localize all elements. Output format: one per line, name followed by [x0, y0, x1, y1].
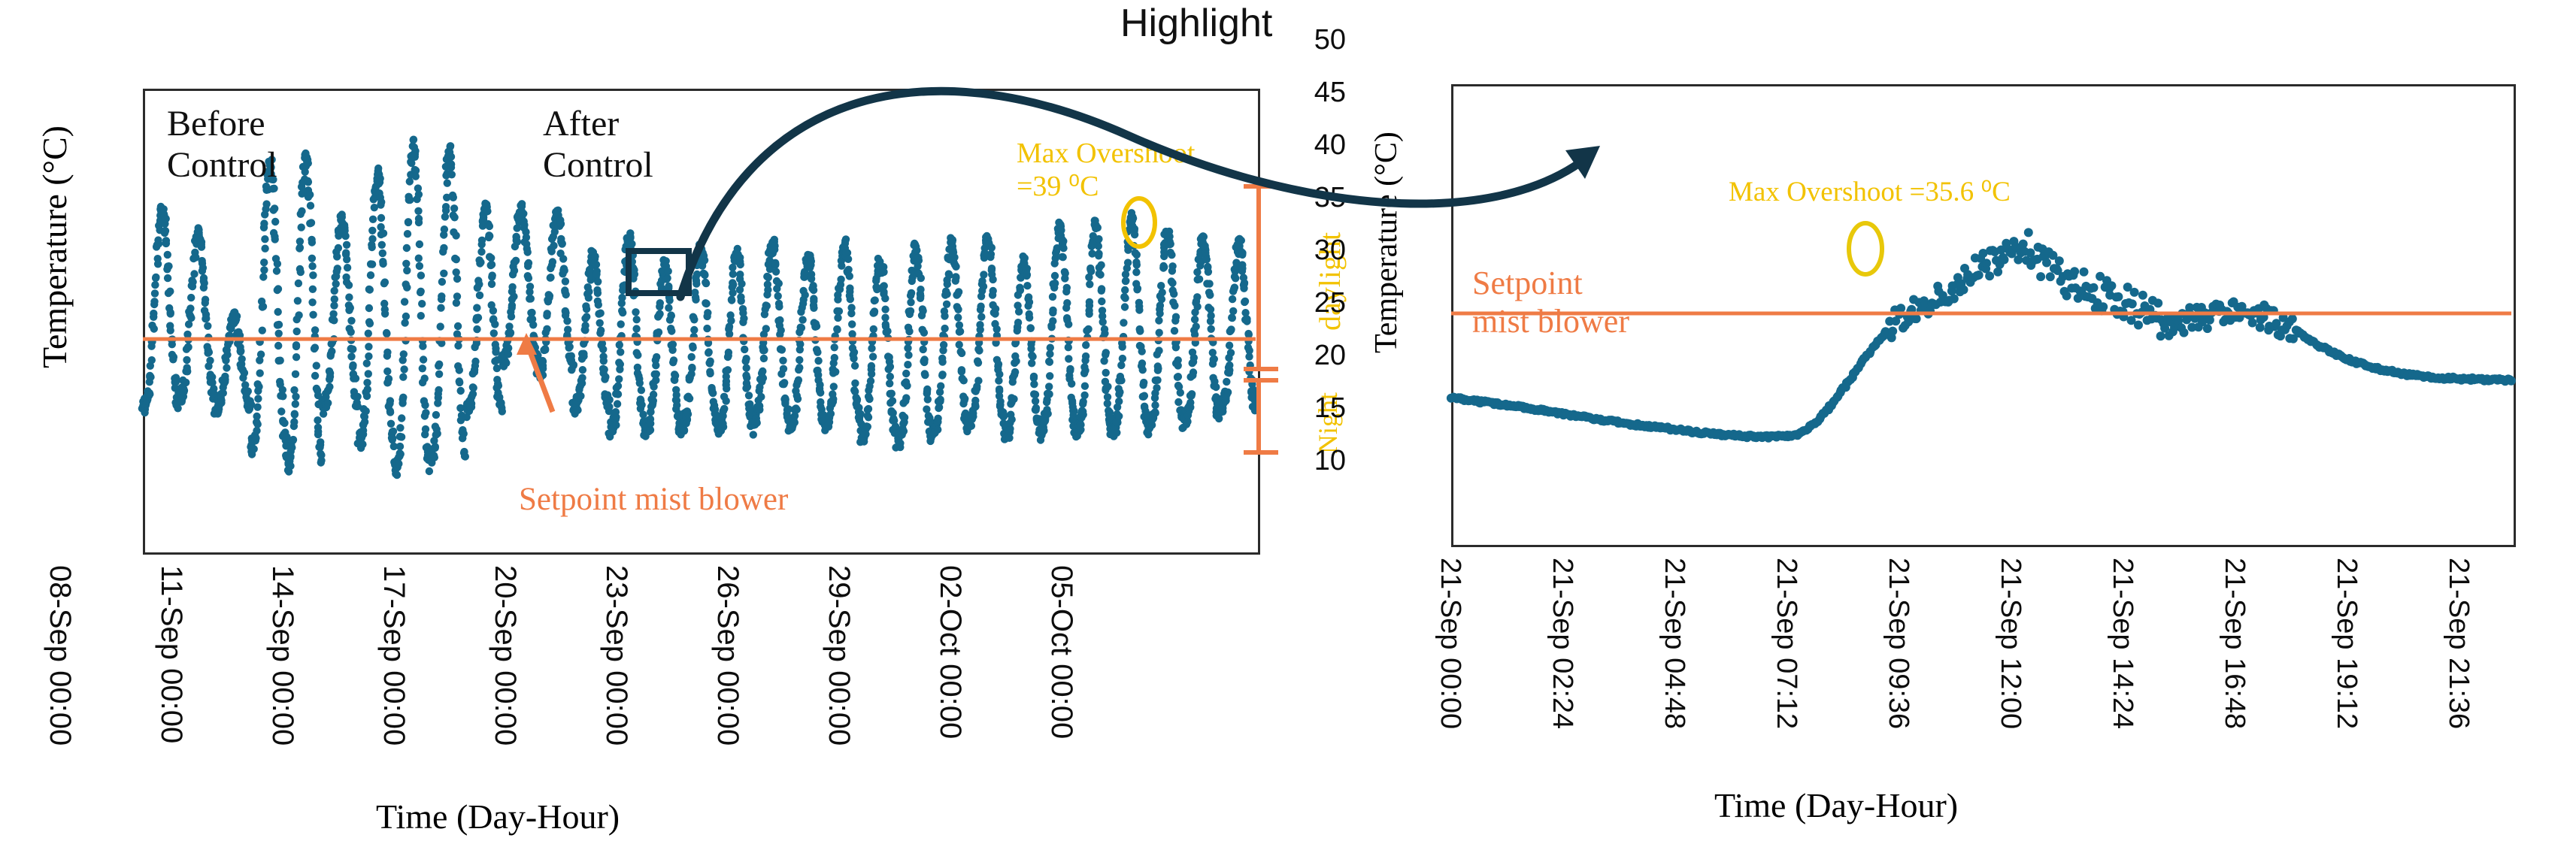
right-y-tick: 30	[1252, 236, 1346, 265]
x-tick-label: 21-Sep 14:24	[2108, 558, 2137, 729]
before-control-label: Before Control	[167, 103, 277, 186]
setpoint-label-right: Setpoint mist blower	[1472, 265, 1629, 340]
max-overshoot-label-left: Max Overshoot =39 ⁰C	[1017, 138, 1195, 203]
right-chart-panel: Temperature (°C) 50 45 40 35 30 25 20 15…	[1346, 0, 2576, 850]
left-x-axis-title: Time (Day-Hour)	[376, 797, 620, 836]
max-overshoot-label-right: Max Overshoot =35.6 ⁰C	[1729, 177, 2011, 209]
x-tick-label: 21-Sep 09:36	[1884, 558, 1913, 729]
x-tick-label: 20-Sep 00:00	[490, 565, 520, 746]
right-x-axis-title: Time (Day-Hour)	[1714, 785, 1958, 825]
right-y-tick: 45	[1252, 78, 1346, 107]
left-y-axis-title: Temperature (°C)	[35, 126, 74, 368]
right-y-tick: 35	[1252, 183, 1346, 212]
x-tick-label: 21-Sep 02:24	[1548, 558, 1577, 729]
right-y-tick: 20	[1252, 341, 1346, 370]
right-y-axis-title: Temperature (°C)	[1368, 132, 1405, 353]
right-y-tick: 25	[1252, 289, 1346, 317]
x-tick-label: 02-Oct 00:00	[935, 565, 965, 739]
right-y-tick: 40	[1252, 131, 1346, 159]
x-tick-label: 23-Sep 00:00	[602, 565, 632, 746]
left-chart-panel: Temperature (°C) 50 45 40 35 30 25 20 15…	[0, 0, 1346, 850]
x-tick-label: 14-Sep 00:00	[268, 565, 298, 746]
x-tick-label: 29-Sep 00:00	[824, 565, 854, 746]
x-tick-label: 21-Sep 07:12	[1772, 558, 1801, 729]
x-tick-label: 21-Sep 00:00	[1436, 558, 1465, 729]
x-tick-label: 17-Sep 00:00	[379, 565, 409, 746]
x-tick-label: 21-Sep 19:12	[2332, 558, 2361, 729]
x-tick-label: 21-Sep 16:48	[2220, 558, 2249, 729]
x-tick-label: 26-Sep 00:00	[713, 565, 743, 746]
x-tick-label: 21-Sep 04:48	[1660, 558, 1689, 729]
after-control-label: After Control	[543, 103, 653, 186]
right-y-tick: 10	[1252, 446, 1346, 475]
x-tick-label: 05-Oct 00:00	[1047, 565, 1077, 739]
x-tick-label: 08-Sep 00:00	[45, 565, 75, 746]
x-tick-label: 11-Sep 00:00	[156, 565, 186, 743]
x-tick-label: 21-Sep 21:36	[2444, 558, 2473, 729]
setpoint-label-left: Setpoint mist blower	[519, 481, 788, 518]
highlight-label: Highlight	[1120, 2, 1272, 47]
x-tick-label: 21-Sep 12:00	[1996, 558, 2025, 729]
right-y-tick: 15	[1252, 394, 1346, 422]
